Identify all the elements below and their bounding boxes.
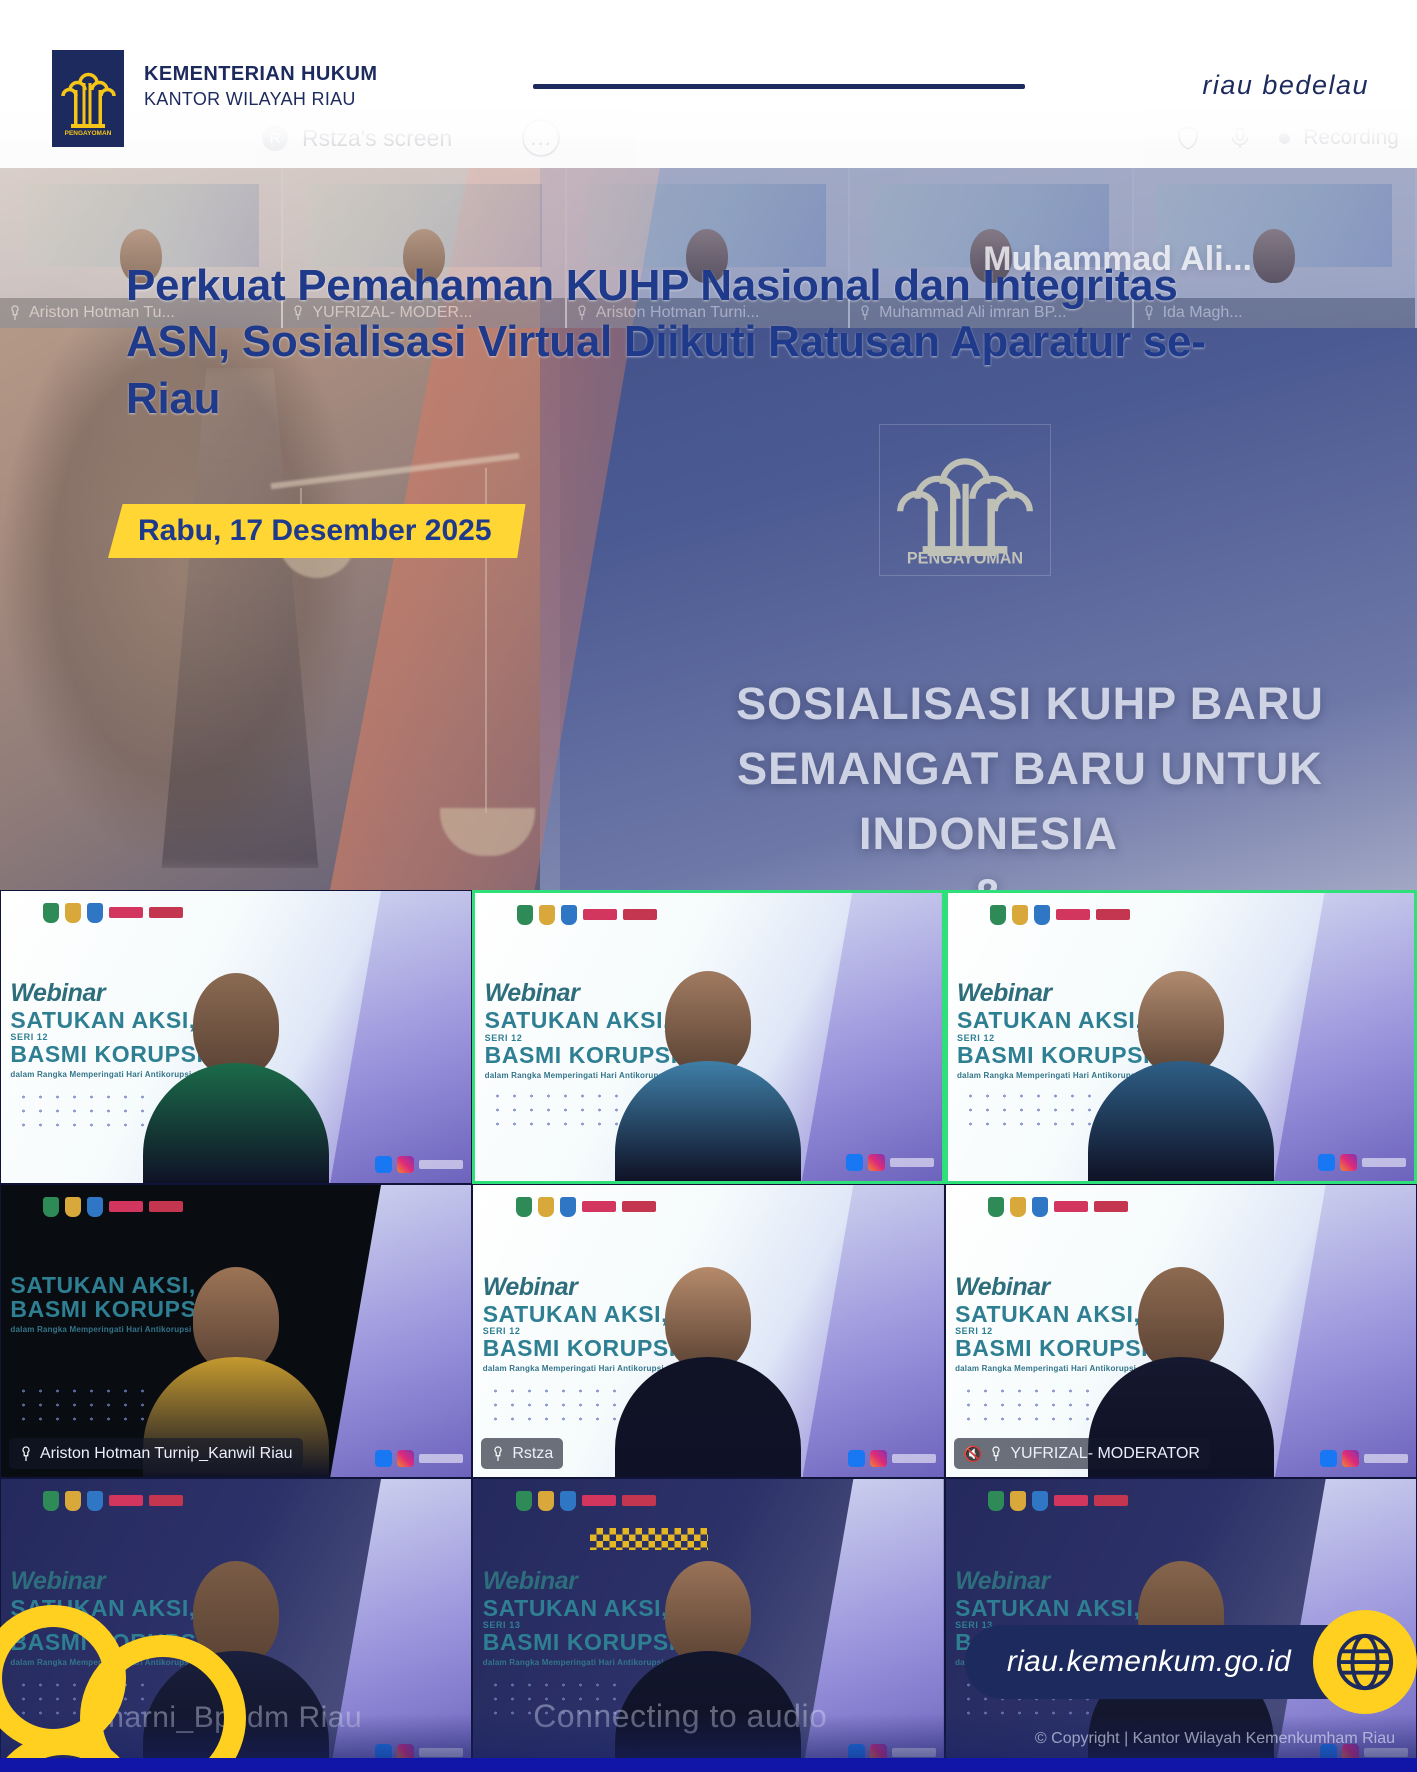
banner-social-row xyxy=(375,1450,463,1467)
tile-name-label: Ariston Hotman Turnip_Kanwil Riau xyxy=(9,1438,303,1469)
figure-head xyxy=(1138,1267,1224,1371)
banner-social-row xyxy=(848,1450,936,1467)
participant-figure xyxy=(615,1267,801,1477)
pengayoman-logo-icon: PENGAYOMAN xyxy=(58,57,118,141)
svg-text:PENGAYOMAN: PENGAYOMAN xyxy=(65,130,112,137)
kanwil-crest-icon xyxy=(87,1491,103,1511)
instagram-icon xyxy=(397,1156,414,1173)
facebook-icon xyxy=(1320,1450,1337,1467)
page-header: PENGAYOMAN KEMENTERIAN HUKUM KANTOR WILA… xyxy=(0,0,1417,150)
banner-dot-pattern xyxy=(15,1384,145,1430)
kanwil-crest-icon xyxy=(560,1491,576,1511)
facebook-icon xyxy=(846,1154,863,1171)
slide-line-3: INDONESIA xyxy=(560,808,1417,860)
banner-logo-row xyxy=(43,1491,183,1511)
songket-ornament-icon xyxy=(590,1528,708,1550)
bangga-crest-icon xyxy=(1010,1197,1026,1217)
social-handle-text xyxy=(892,1454,936,1463)
banner-dot-pattern xyxy=(15,1090,145,1136)
berakhlak-logo-icon xyxy=(149,1201,183,1212)
video-tile[interactable]: WebinarSATUKAN AKSI,SERI 12BASMI KORUPSI… xyxy=(472,1184,944,1478)
banner-logo-row xyxy=(43,1197,183,1217)
poster-canvas: R Rstza's screen ... Recording xyxy=(0,0,1417,1772)
facebook-icon xyxy=(375,1450,392,1467)
bangga-crest-icon xyxy=(65,1197,81,1217)
header-tagline: riau bedelau xyxy=(1202,70,1369,101)
figure-body xyxy=(615,1357,801,1477)
riau-crest-icon xyxy=(43,903,59,923)
bangga-crest-icon xyxy=(65,903,81,923)
kanwil-crest-icon xyxy=(1032,1491,1048,1511)
slide-line-2: SEMANGAT BARU UNTUK xyxy=(600,743,1417,795)
antikorupsi-logo-icon xyxy=(1056,909,1090,920)
kanwil-crest-icon xyxy=(1034,905,1050,925)
figure-head xyxy=(665,1561,751,1665)
figure-head xyxy=(1138,971,1224,1075)
antikorupsi-logo-icon xyxy=(582,1201,616,1212)
instagram-icon xyxy=(1342,1450,1359,1467)
decorative-pengayoman-outline xyxy=(0,1558,258,1772)
riau-crest-icon xyxy=(517,905,533,925)
banner-logo-row xyxy=(517,905,657,925)
banner-dot-pattern xyxy=(962,1089,1092,1135)
video-tile[interactable]: WebinarSATUKAN AKSI,SERI 12BASMI KORUPSI… xyxy=(0,890,472,1184)
globe-badge[interactable] xyxy=(1313,1610,1417,1714)
mic-muted-icon: 🔇 xyxy=(964,1445,983,1463)
berakhlak-logo-icon xyxy=(1094,1201,1128,1212)
figure-head xyxy=(193,1267,279,1371)
copyright-text: © Copyright | Kantor Wilayah Kemenkumham… xyxy=(1035,1730,1395,1748)
pin-icon xyxy=(19,1446,33,1462)
berakhlak-logo-icon xyxy=(149,1495,183,1506)
kanwil-crest-icon xyxy=(87,1197,103,1217)
riau-crest-icon xyxy=(988,1197,1004,1217)
bangga-crest-icon xyxy=(538,1197,554,1217)
kanwil-crest-icon xyxy=(560,1197,576,1217)
pin-icon xyxy=(491,1446,505,1462)
instagram-icon xyxy=(868,1154,885,1171)
banner-logo-row xyxy=(43,903,183,923)
pin-icon xyxy=(8,305,22,321)
banner-dot-pattern xyxy=(489,1089,619,1135)
pin-icon xyxy=(989,1446,1003,1462)
pengayoman-outline-icon xyxy=(0,1558,258,1772)
banner-logo-row xyxy=(516,1197,656,1217)
slide-line-1: SOSIALISASI KUHP BARU xyxy=(600,678,1417,730)
kanwil-crest-icon xyxy=(1032,1197,1048,1217)
antikorupsi-logo-icon xyxy=(109,1201,143,1212)
bangga-crest-icon xyxy=(539,905,555,925)
video-grid-row: SATUKAN AKSI,BASMI KORUPSIdalam Rangka M… xyxy=(0,1184,1417,1478)
participant-figure xyxy=(1088,971,1274,1181)
riau-crest-icon xyxy=(43,1197,59,1217)
svg-text:PENGAYOMAN: PENGAYOMAN xyxy=(907,550,1023,566)
participant-figure xyxy=(615,971,801,1181)
pengayoman-watermark: PENGAYOMAN xyxy=(879,424,1051,576)
berakhlak-logo-icon xyxy=(623,909,657,920)
social-handle-text xyxy=(890,1158,934,1167)
antikorupsi-logo-icon xyxy=(109,1495,143,1506)
kanwil-crest-icon xyxy=(561,905,577,925)
website-url-bar[interactable]: riau.kemenkum.go.id xyxy=(965,1610,1417,1714)
kanwil-crest-icon xyxy=(87,903,103,923)
antikorupsi-logo-icon xyxy=(583,909,617,920)
tile-name-label: 🔇YUFRIZAL- MODERATOR xyxy=(954,1438,1210,1469)
banner-logo-row xyxy=(988,1197,1128,1217)
kemenkum-logo: PENGAYOMAN xyxy=(52,50,124,147)
riau-crest-icon xyxy=(516,1491,532,1511)
social-handle-text xyxy=(1364,1454,1408,1463)
tile-name-text: Rstza xyxy=(512,1445,553,1463)
berakhlak-logo-icon xyxy=(149,907,183,918)
bangga-crest-icon xyxy=(538,1491,554,1511)
org-line-1: KEMENTERIAN HUKUM xyxy=(144,62,377,88)
bangga-crest-icon xyxy=(65,1491,81,1511)
figure-head xyxy=(665,971,751,1075)
antikorupsi-logo-icon xyxy=(1054,1201,1088,1212)
video-tile[interactable]: WebinarSATUKAN AKSI,SERI 12BASMI KORUPSI… xyxy=(945,1184,1417,1478)
banner-logo-row xyxy=(988,1491,1128,1511)
pengayoman-logo-icon: PENGAYOMAN xyxy=(890,434,1040,566)
date-badge: Rabu, 17 Desember 2025 xyxy=(108,504,526,558)
thumb-person xyxy=(1253,229,1295,283)
instagram-icon xyxy=(1340,1154,1357,1171)
header-divider-rule xyxy=(533,84,1025,89)
riau-crest-icon xyxy=(990,905,1006,925)
figure-body xyxy=(1088,1061,1274,1181)
banner-social-row xyxy=(1318,1154,1406,1171)
bangga-crest-icon xyxy=(1012,905,1028,925)
header-org-text: KEMENTERIAN HUKUM KANTOR WILAYAH RIAU xyxy=(144,62,377,111)
figure-head xyxy=(665,1267,751,1371)
social-handle-text xyxy=(419,1160,463,1169)
video-tile[interactable]: WebinarSATUKAN AKSI,SERI 12BASMI KORUPSI… xyxy=(472,890,944,1184)
instagram-icon xyxy=(397,1450,414,1467)
instagram-icon xyxy=(870,1450,887,1467)
figure-head xyxy=(193,973,279,1077)
banner-social-row xyxy=(1320,1450,1408,1467)
bangga-crest-icon xyxy=(1010,1491,1026,1511)
video-tile[interactable]: SATUKAN AKSI,BASMI KORUPSIdalam Rangka M… xyxy=(0,1184,472,1478)
berakhlak-logo-icon xyxy=(1094,1495,1128,1506)
banner-dot-pattern xyxy=(487,1384,617,1430)
slide-line-4: & xyxy=(560,868,1417,890)
social-handle-text xyxy=(419,1454,463,1463)
berakhlak-logo-icon xyxy=(1096,909,1130,920)
globe-icon xyxy=(1334,1631,1396,1693)
riau-crest-icon xyxy=(988,1491,1004,1511)
antikorupsi-logo-icon xyxy=(582,1495,616,1506)
riau-crest-icon xyxy=(516,1197,532,1217)
video-grid-row: WebinarSATUKAN AKSI,SERI 12BASMI KORUPSI… xyxy=(0,890,1417,1184)
tile-name-text: Ariston Hotman Turnip_Kanwil Riau xyxy=(40,1445,293,1463)
article-title-block: Perkuat Pemahaman KUHP Nasional dan Inte… xyxy=(126,258,1206,427)
berakhlak-logo-icon xyxy=(622,1495,656,1506)
video-tile[interactable]: WebinarSATUKAN AKSI,SERI 12BASMI KORUPSI… xyxy=(945,890,1417,1184)
banner-logo-row xyxy=(990,905,1130,925)
antikorupsi-logo-icon xyxy=(1054,1495,1088,1506)
facebook-icon xyxy=(1318,1154,1335,1171)
antikorupsi-logo-icon xyxy=(109,907,143,918)
riau-crest-icon xyxy=(43,1491,59,1511)
tile-name-label: Rstza xyxy=(481,1438,563,1469)
footer-color-strip xyxy=(0,1758,1417,1772)
banner-dot-pattern xyxy=(960,1384,1090,1430)
tile-name-text: YUFRIZAL- MODERATOR xyxy=(1010,1445,1200,1463)
social-handle-text xyxy=(1362,1158,1406,1167)
facebook-icon xyxy=(375,1156,392,1173)
banner-social-row xyxy=(375,1156,463,1173)
banner-logo-row xyxy=(516,1491,656,1511)
figure-body xyxy=(615,1061,801,1181)
banner-social-row xyxy=(846,1154,934,1171)
page-title: Perkuat Pemahaman KUHP Nasional dan Inte… xyxy=(126,258,1206,427)
org-line-2: KANTOR WILAYAH RIAU xyxy=(144,88,377,111)
participant-figure xyxy=(143,973,329,1183)
berakhlak-logo-icon xyxy=(622,1201,656,1212)
facebook-icon xyxy=(848,1450,865,1467)
figure-body xyxy=(143,1063,329,1183)
